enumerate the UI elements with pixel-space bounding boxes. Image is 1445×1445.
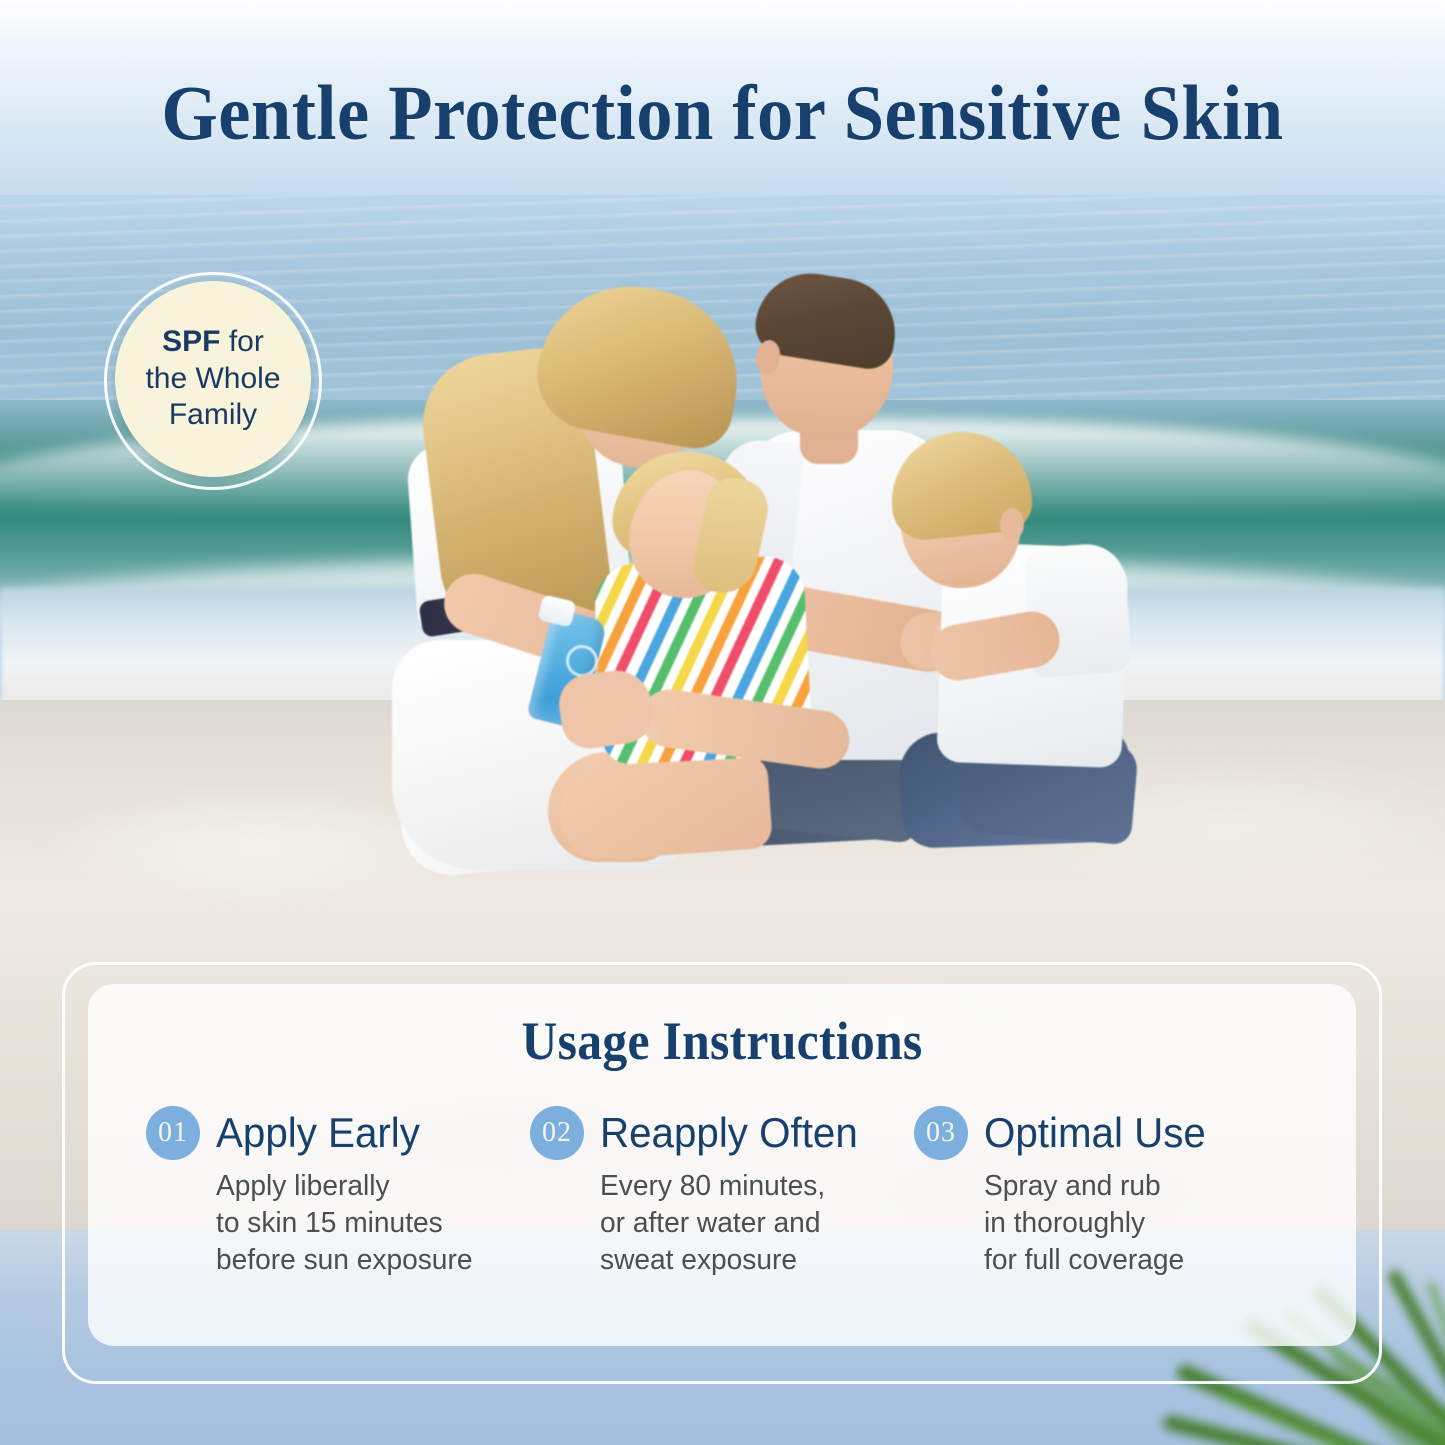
usage-step-2-body: Every 80 minutes, or after water and swe… [600, 1168, 891, 1279]
usage-step-3-title: Optimal Use [984, 1109, 1206, 1157]
usage-step-2: 02 Reapply Often Every 80 minutes, or af… [530, 1106, 914, 1279]
poster-canvas: Gentle Protection for Sensitive Skin SPF… [0, 0, 1445, 1445]
usage-steps-row: 01 Apply Early Apply liberally to skin 1… [128, 1106, 1316, 1279]
page-title: Gentle Protection for Sensitive Skin [51, 68, 1395, 158]
spf-badge-line3: Family [169, 398, 257, 431]
usage-step-3-body: Spray and rub in thoroughly for full cov… [984, 1168, 1275, 1279]
usage-step-2-number-badge: 02 [530, 1106, 584, 1160]
usage-instructions-panel: Usage Instructions 01 Apply Early Apply … [88, 984, 1356, 1346]
usage-step-1-number-badge: 01 [146, 1106, 200, 1160]
usage-step-2-title: Reapply Often [600, 1109, 858, 1157]
girl-legs [557, 753, 773, 862]
spf-badge-disc: SPF for the Whole Family [115, 281, 311, 477]
usage-panel-heading: Usage Instructions [176, 1010, 1269, 1072]
usage-step-2-head: 02 Reapply Often [530, 1106, 900, 1160]
usage-step-1-body: Apply liberally to skin 15 minutes befor… [216, 1168, 507, 1279]
spf-badge-text: SPF for the Whole Family [131, 324, 294, 434]
usage-step-1-head: 01 Apply Early [146, 1106, 516, 1160]
spf-badge-emphasis: SPF [162, 325, 220, 358]
usage-step-1-title: Apply Early [216, 1109, 420, 1157]
spf-badge-line2: the Whole [145, 362, 280, 395]
spf-badge-line1-rest: for [220, 325, 263, 358]
usage-step-3: 03 Optimal Use Spray and rub in thorough… [914, 1106, 1298, 1279]
usage-step-3-number-badge: 03 [914, 1106, 968, 1160]
boy-ear [1000, 508, 1024, 540]
usage-step-1: 01 Apply Early Apply liberally to skin 1… [146, 1106, 530, 1279]
usage-step-3-head: 03 Optimal Use [914, 1106, 1284, 1160]
spf-badge: SPF for the Whole Family [104, 272, 322, 490]
